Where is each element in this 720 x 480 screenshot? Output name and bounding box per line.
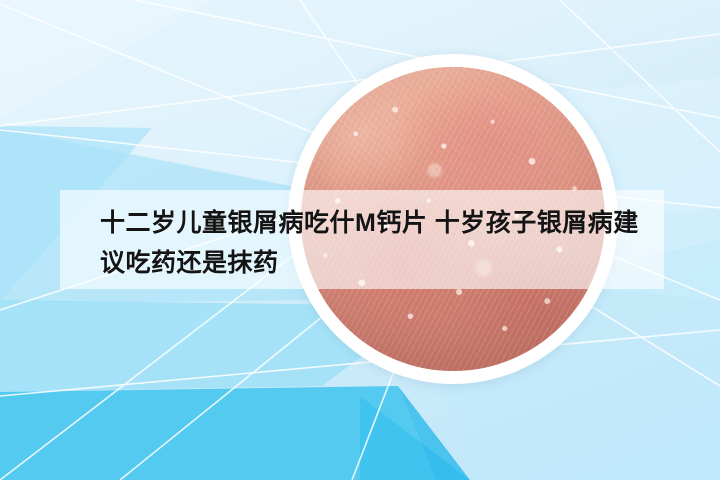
caption-title: 十二岁儿童银屑病吃什M钙片 十岁孩子银屑病建议吃药还是抹药 xyxy=(100,203,640,283)
screenshot-root: 十二岁儿童银屑病吃什M钙片 十岁孩子银屑病建议吃药还是抹药 xyxy=(0,0,720,480)
